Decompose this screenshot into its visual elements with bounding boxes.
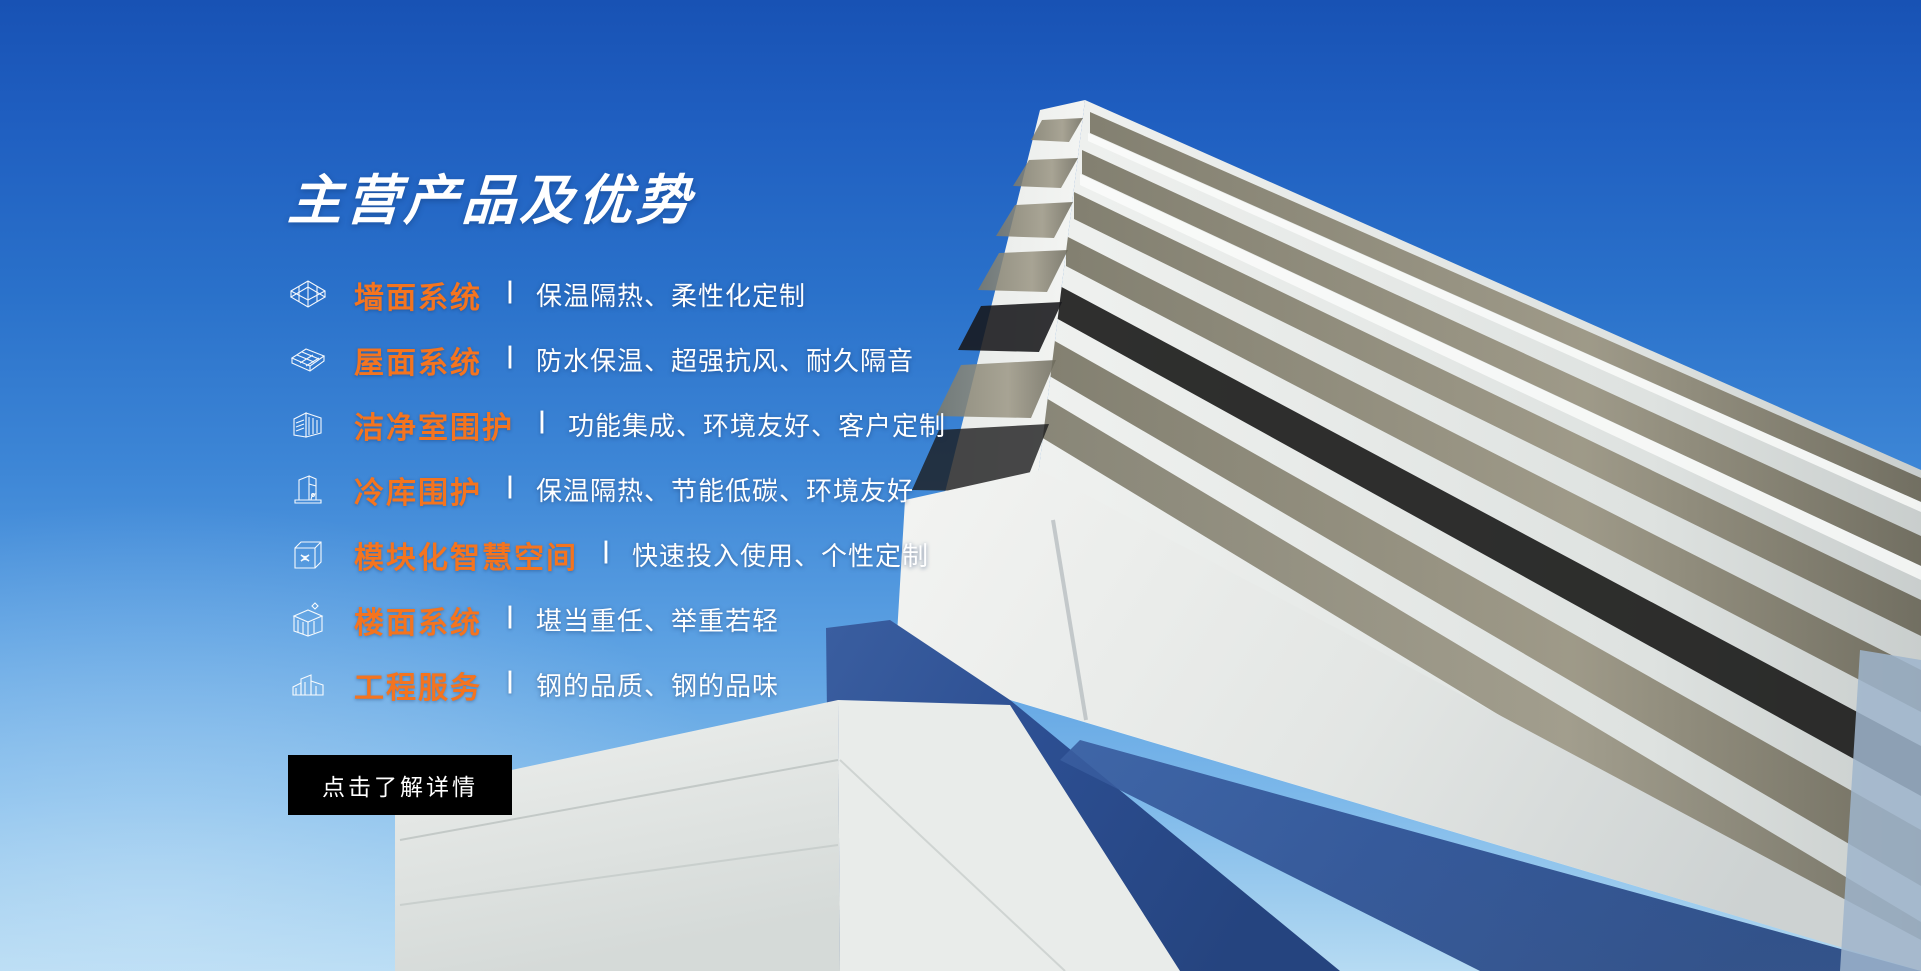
- modular-cube-icon: [288, 535, 328, 575]
- feature-title: 模块化智慧空间: [354, 533, 578, 577]
- feature-title: 洁净室围护: [354, 403, 514, 447]
- cleanroom-icon: [288, 405, 328, 445]
- feature-separator: 丨: [498, 477, 522, 501]
- feature-separator: 丨: [498, 672, 522, 696]
- engineering-service-icon: [288, 665, 328, 705]
- hero-content: 主营产品及优势 墙面系统 丨 保温隔热、柔性化定制: [288, 170, 1288, 815]
- feature-item-engineering-service[interactable]: 工程服务 丨 钢的品质、钢的品味: [288, 652, 1288, 717]
- feature-description: 保温隔热、柔性化定制: [536, 276, 806, 313]
- feature-list: 墙面系统 丨 保温隔热、柔性化定制 屋面系统: [288, 262, 1288, 717]
- feature-separator: 丨: [530, 412, 554, 436]
- feature-item-modular-space[interactable]: 模块化智慧空间 丨 快速投入使用、个性定制: [288, 522, 1288, 587]
- feature-separator: 丨: [498, 607, 522, 631]
- page-title: 主营产品及优势: [286, 170, 1289, 232]
- coldstorage-icon: [288, 470, 328, 510]
- feature-item-cleanroom[interactable]: 洁净室围护 丨 功能集成、环境友好、客户定制: [288, 392, 1288, 457]
- feature-title: 冷库围护: [354, 468, 482, 512]
- feature-title: 屋面系统: [354, 338, 482, 382]
- feature-item-wall-system[interactable]: 墙面系统 丨 保温隔热、柔性化定制: [288, 262, 1288, 327]
- feature-title: 楼面系统: [354, 598, 482, 642]
- feature-title: 工程服务: [354, 663, 482, 707]
- feature-separator: 丨: [594, 542, 618, 566]
- building-far-right-sliver: [1840, 650, 1921, 971]
- floor-deck-icon: [288, 600, 328, 640]
- cta-wrapper: 点击了解详情: [288, 755, 1288, 815]
- feature-item-floor-system[interactable]: 楼面系统 丨 堪当重任、举重若轻: [288, 587, 1288, 652]
- wall-panel-icon: [288, 275, 328, 315]
- feature-description: 保温隔热、节能低碳、环境友好: [536, 471, 914, 508]
- feature-description: 堪当重任、举重若轻: [536, 601, 779, 638]
- feature-description: 快速投入使用、个性定制: [632, 536, 929, 573]
- roof-panel-icon: [288, 340, 328, 380]
- feature-description: 钢的品质、钢的品味: [536, 666, 779, 703]
- feature-separator: 丨: [498, 347, 522, 371]
- feature-separator: 丨: [498, 282, 522, 306]
- hero-banner: 主营产品及优势 墙面系统 丨 保温隔热、柔性化定制: [0, 0, 1921, 971]
- feature-description: 防水保温、超强抗风、耐久隔音: [536, 341, 914, 378]
- feature-item-cold-storage[interactable]: 冷库围护 丨 保温隔热、节能低碳、环境友好: [288, 457, 1288, 522]
- feature-item-roof-system[interactable]: 屋面系统 丨 防水保温、超强抗风、耐久隔音: [288, 327, 1288, 392]
- feature-title: 墙面系统: [354, 273, 482, 317]
- learn-more-button[interactable]: 点击了解详情: [288, 755, 512, 815]
- feature-description: 功能集成、环境友好、客户定制: [568, 406, 946, 443]
